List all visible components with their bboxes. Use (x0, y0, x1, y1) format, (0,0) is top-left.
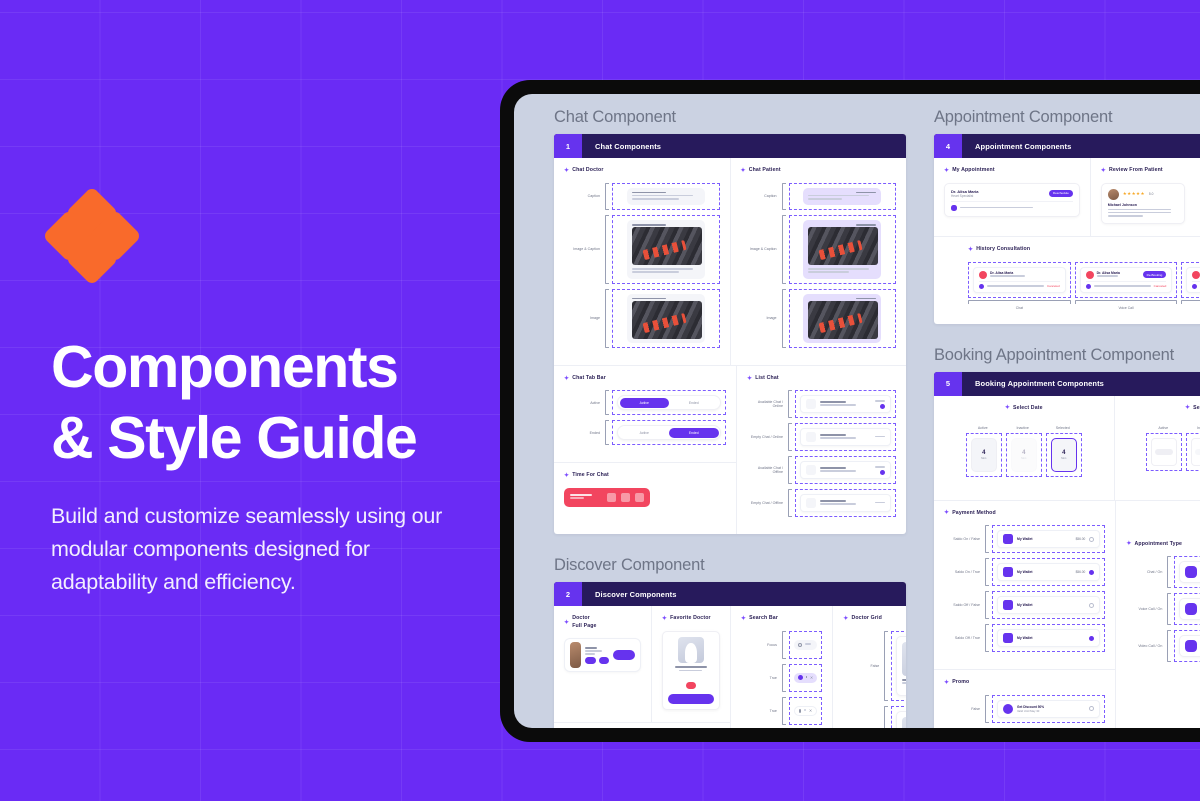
pane-favorite-doctor: ✦Favorite Doctor (652, 606, 730, 722)
re-booking-button[interactable]: Re-Booking (1143, 271, 1167, 278)
pane-appointment-type: ✦Appointment Type Chat / On Chat Start C… (1116, 501, 1200, 728)
spec-label: Ended (564, 420, 602, 445)
subsection-heading: ✦Promo (944, 679, 1105, 687)
diamond-bullet-icon: ✦ (1101, 168, 1106, 174)
card-header-label: Appointment Components (962, 134, 1071, 158)
hero-section: Components & Style Guide Build and custo… (51, 196, 481, 600)
status-badge: Canceled (1154, 284, 1167, 288)
state-label: Active (1146, 426, 1182, 430)
page-title-line-1: Components (51, 334, 398, 400)
time-state-active: Active (1146, 426, 1182, 471)
doctor-photo (902, 642, 906, 676)
calendar-icon (1086, 284, 1091, 289)
spec-preview: Active Ended (612, 420, 726, 445)
bracket-icon (605, 420, 609, 445)
diamond-bullet-icon: ✦ (564, 620, 569, 626)
spec-label: Active (564, 390, 602, 415)
card-number-badge: 1 (554, 134, 582, 158)
timer-digit (621, 493, 630, 502)
spec-row: Saldo Off / True My Wallet (944, 624, 1105, 652)
spec-row: Image & Caption (741, 215, 897, 284)
section-booking-appointment-component: Booking Appointment Component 5 Booking … (934, 346, 1200, 728)
chat-list-item[interactable] (800, 428, 891, 446)
radio-button[interactable] (1089, 603, 1094, 608)
spec-label: Saldo Off / True (944, 624, 982, 652)
section-title: Booking Appointment Component (934, 346, 1200, 365)
avatar (570, 642, 581, 668)
bracket-icon (1167, 593, 1171, 625)
subsection-heading: ✦Favorite Doctor (662, 615, 720, 623)
radio-button[interactable] (1089, 636, 1094, 641)
pane-history-consultation: ✦History Consultation Dr. Alisa Maria (934, 237, 1200, 324)
message-image (808, 301, 878, 339)
card-header-bar: 5 Booking Appointment Components (934, 372, 1200, 396)
wallet-amount: $56.00 (1076, 537, 1086, 541)
timer-digit (635, 493, 644, 502)
radio-button[interactable] (1089, 537, 1094, 542)
pane-chat-doctor: ✦Chat Doctor Caption (554, 158, 731, 365)
state-label: Inactive (1006, 426, 1042, 430)
bracket-icon (605, 183, 609, 211)
diamond-bullet-icon: ✦ (741, 168, 746, 174)
spec-row: Available Chat / Offline (747, 456, 896, 484)
spec-preview (795, 489, 896, 517)
subsection-heading: ✦Search Bar (741, 615, 822, 623)
wallet-name: My Wallet (1017, 537, 1072, 541)
section-appointment-component: Appointment Component 4 Appointment Comp… (934, 108, 1200, 324)
time-state-inactive: Inactive (1186, 426, 1200, 471)
chat-tab-bar[interactable]: Active Ended (617, 425, 721, 440)
spec-label: True (741, 664, 779, 692)
card-header-label: Chat Components (582, 134, 661, 158)
diamond-bullet-icon: ✦ (662, 616, 667, 622)
spec-label: Image & Caption (564, 215, 602, 284)
card-discover-components: 2 Discover Components ✦Doctor Full Page (554, 582, 906, 728)
spec-label: True (843, 706, 881, 728)
search-icon (798, 643, 802, 647)
avatar (806, 465, 816, 475)
spec-label: Voice Call / On (1126, 593, 1164, 625)
spec-preview: Video Call Bringing Face-to-Face Togethe… (1174, 630, 1200, 662)
spec-row: Saldo On / True My Wallet $56.00 (944, 558, 1105, 586)
tablet-device-frame: Chat Component 1 Chat Components ✦Chat D… (500, 80, 1200, 742)
spec-label: Video Call / On (1126, 630, 1164, 662)
wallet-icon (1003, 567, 1013, 577)
reviewer-name: Michael Johnson (1108, 203, 1178, 207)
calendar-icon (951, 205, 957, 211)
spec-row: Video Call / On Video Call Bringing Face… (1126, 630, 1200, 662)
page-title: Components & Style Guide (51, 332, 481, 474)
promo-icon (1003, 704, 1013, 714)
spec-row: False Get Discount 50% Valid Until May 3… (944, 695, 1105, 723)
avatar (806, 399, 816, 409)
card-booking-appointment-components: 5 Booking Appointment Components ✦Select… (934, 372, 1200, 728)
history-card[interactable]: Dr. Alisa Maria Re-Booking Canceled (1080, 267, 1173, 293)
payment-option[interactable]: My Wallet $56.00 (997, 530, 1100, 548)
bracket-icon (782, 631, 786, 659)
spec-row: Saldo Off / False My Wallet (944, 591, 1105, 619)
spec-preview (789, 183, 897, 211)
payment-option[interactable]: My Wallet (997, 596, 1100, 614)
bracket-icon (985, 525, 989, 553)
time-for-chat-card (564, 488, 650, 507)
avatar (806, 432, 816, 442)
history-item: Dr. Alisa Maria Video (1181, 262, 1200, 310)
spec-row: Available Chat / Online (747, 390, 896, 418)
spec-row: Empty Chat / Online (747, 423, 896, 451)
spec-label: True (741, 697, 779, 725)
diamond-bullet-icon: ✦ (944, 168, 949, 174)
search-icon (798, 675, 803, 680)
promo-option[interactable]: Get Discount 50% Valid Until May 30 (997, 700, 1100, 718)
subsection-heading: ✦Chat Doctor (564, 167, 720, 175)
calendar-icon (979, 284, 984, 289)
message-image (632, 227, 702, 265)
spec-preview (612, 215, 720, 284)
spec-label: Focus (741, 631, 779, 659)
chat-bubble (803, 188, 881, 206)
date-cell[interactable]: 4Mon (1051, 438, 1077, 472)
doctor-photo (902, 717, 906, 728)
pane-category: ✦Category False True (554, 722, 730, 728)
spec-row: Image (564, 289, 720, 348)
pane-doctor-full-page: ✦Doctor Full Page (554, 606, 652, 722)
page-title-line-2: & Style Guide (51, 405, 416, 471)
appointment-type-card[interactable]: Video Call Bringing Face-to-Face Togethe… (1179, 635, 1200, 657)
spec-preview: My Wallet $56.00 (992, 558, 1105, 586)
bracket-icon (985, 591, 989, 619)
spec-preview: My Wallet (992, 591, 1105, 619)
rating-stars: ★★★★★ (1123, 191, 1145, 197)
pane-time-for-chat: ✦Time For Chat (554, 462, 736, 519)
chat-icon (1185, 566, 1197, 578)
promo-desc: Valid Until May 30 (1017, 709, 1085, 713)
search-icon (799, 709, 802, 713)
bracket-icon (782, 215, 786, 284)
spec-preview (795, 390, 896, 418)
pane-promo: ✦Promo False Get Discount 50% (934, 669, 1115, 728)
spec-label: Available Chat / Online (747, 390, 785, 418)
search-input-focused[interactable]: ✕ (794, 673, 817, 683)
tablet-screen[interactable]: Chat Component 1 Chat Components ✦Chat D… (514, 94, 1200, 728)
video-call-icon (1185, 640, 1197, 652)
wallet-icon (1003, 600, 1013, 610)
spec-preview: Chat Start Conversation Instantly Throug… (1174, 556, 1200, 588)
state-label: Inactive (1186, 426, 1200, 430)
clear-icon[interactable]: ✕ (809, 708, 812, 713)
spec-preview (612, 183, 720, 211)
diamond-bullet-icon: ✦ (564, 376, 569, 382)
diamond-bullet-icon: ✦ (564, 168, 569, 174)
section-discover-component: Discover Component 2 Discover Components… (554, 556, 906, 728)
doctor-grid-card[interactable] (896, 636, 906, 696)
card-header-label: Booking Appointment Components (962, 372, 1104, 396)
doctor-name: Dr. Alisa Maria (990, 271, 1060, 275)
timer-digit (607, 493, 616, 502)
status-badge: Canceled (1047, 284, 1060, 288)
bracket-icon (605, 215, 609, 284)
tab-ended[interactable]: Ended (669, 428, 719, 438)
wallet-name: My Wallet (1017, 603, 1085, 607)
spec-label: Saldo On / True (944, 558, 982, 586)
bracket-icon (968, 300, 1071, 304)
pane-select-time: ✦Select Time Active Inactive S (1115, 396, 1200, 500)
spec-label: Image & Caption (741, 215, 779, 284)
doctor-name: Dr. Alisa Maria (1097, 271, 1140, 275)
diamond-bullet-icon: ✦ (968, 247, 973, 253)
subsection-heading: ✦Appointment Type (1126, 541, 1200, 549)
video-call-icon (1192, 271, 1200, 279)
bracket-icon (1167, 556, 1171, 588)
spec-preview (795, 456, 896, 484)
doctor-tag (599, 657, 610, 664)
chat-bubble-image-only (803, 294, 881, 343)
diamond-bullet-icon: ✦ (1126, 541, 1131, 547)
spec-row: Active Active Ended (564, 390, 726, 415)
chat-icon (979, 271, 987, 279)
state-label: Active (966, 426, 1002, 430)
date-state-inactive: Inactive 4Mon (1006, 426, 1042, 477)
chat-bubble-image-only (627, 294, 705, 343)
pane-payment-method: ✦Payment Method Saldo On / False My Wall… (934, 501, 1115, 670)
subsection-heading: ✦Time For Chat (564, 472, 726, 480)
spec-preview (795, 423, 896, 451)
pane-chat-patient: ✦Chat Patient Caption (731, 158, 907, 365)
tab-active[interactable]: Active (620, 428, 670, 438)
doctor-role: Heart Specialist (951, 194, 1045, 198)
bracket-icon (782, 664, 786, 692)
review-card: ★★★★★ 5.0 Michael Johnson (1101, 183, 1185, 225)
pane-list-chat: ✦List Chat Available Chat / Online (737, 366, 906, 535)
spec-label: Image (564, 289, 602, 348)
bracket-icon (884, 631, 888, 701)
subsection-heading: ✦Doctor Full Page (564, 615, 641, 630)
time-slot[interactable] (1191, 438, 1200, 466)
spec-preview (789, 289, 897, 348)
bracket-icon (788, 423, 792, 451)
message-image (808, 227, 878, 265)
card-number-badge: 2 (554, 582, 582, 606)
time-slot[interactable] (1151, 438, 1177, 466)
voice-call-icon (1086, 271, 1094, 279)
doctor-full-page-card[interactable] (564, 638, 641, 672)
wallet-name: My Wallet (1017, 570, 1072, 574)
bracket-icon (1181, 300, 1200, 304)
spec-row: Voice Call / On Voice Call Start Convers… (1126, 593, 1200, 625)
history-card[interactable]: Dr. Alisa Maria Canceled (973, 267, 1066, 293)
bracket-icon (782, 289, 786, 348)
state-label: Selected (1046, 426, 1082, 430)
doctor-tag (585, 657, 596, 664)
bracket-icon (1167, 630, 1171, 662)
history-card[interactable]: Dr. Alisa Maria (1186, 267, 1200, 293)
reschedule-button[interactable]: Reschedule (1049, 190, 1073, 197)
clear-icon[interactable]: ✕ (810, 675, 813, 680)
wallet-icon (1003, 633, 1013, 643)
spec-label: Empty Chat / Online (747, 423, 785, 451)
spec-label: Caption (564, 183, 602, 211)
chat-bubble-image (803, 220, 881, 279)
diamond-bullet-icon: ✦ (564, 473, 569, 479)
section-chat-component: Chat Component 1 Chat Components ✦Chat D… (554, 108, 906, 534)
chat-list-item[interactable] (800, 494, 891, 512)
bracket-icon (985, 695, 989, 723)
spec-label: False (944, 695, 982, 723)
spec-row: False (843, 631, 906, 701)
bracket-icon (788, 390, 792, 418)
bracket-icon (782, 183, 786, 211)
favorite-doctor-card[interactable] (662, 631, 720, 710)
spec-label: False (843, 631, 881, 701)
hero-subtitle: Build and customize seamlessly using our… (51, 500, 451, 600)
diamond-bullet-icon: ✦ (843, 616, 848, 622)
bracket-icon (782, 697, 786, 725)
spec-preview: ✕ (789, 664, 822, 692)
chat-list-item[interactable] (800, 395, 891, 413)
chat-list-item[interactable] (800, 461, 891, 479)
book-button[interactable] (668, 694, 714, 704)
spec-label: Chat / On (1126, 556, 1164, 588)
payment-option[interactable]: My Wallet (997, 629, 1100, 647)
pane-my-appointment: ✦My Appointment Dr. Alisa Maria Heart Sp… (934, 158, 1091, 236)
card-header-bar: 2 Discover Components (554, 582, 906, 606)
card-number-badge: 4 (934, 134, 962, 158)
subsection-heading: ✦List Chat (747, 375, 896, 383)
subsection-heading: ✦My Appointment (944, 167, 1080, 175)
bracket-icon (605, 390, 609, 415)
bracket-icon (788, 456, 792, 484)
radio-button[interactable] (1089, 706, 1094, 711)
card-header-label: Discover Components (582, 582, 677, 606)
date-cell[interactable]: 4Mon (1011, 438, 1037, 472)
card-chat-components: 1 Chat Components ✦Chat Doctor Caption (554, 134, 906, 534)
search-input-filled[interactable]: ✕ (794, 706, 817, 716)
pane-select-date: ✦Select Date Active 4Mon Inactive 4Mon (934, 396, 1115, 500)
spec-label: Image (741, 289, 779, 348)
spec-preview: Voice Call Start Conversation Instantly … (1174, 593, 1200, 625)
wallet-name: My Wallet (1017, 636, 1085, 640)
bracket-icon (985, 558, 989, 586)
spec-row: Chat / On Chat Start Conversation Instan… (1126, 556, 1200, 588)
spec-label: Saldo Off / False (944, 591, 982, 619)
spec-row: Image & Caption (564, 215, 720, 284)
card-appointment-components: 4 Appointment Components ✦My Appointment… (934, 134, 1200, 324)
card-header-bar: 4 Appointment Components (934, 134, 1200, 158)
spec-preview: My Wallet $56.00 (992, 525, 1105, 553)
chat-bubble-image (627, 220, 705, 279)
bracket-icon (605, 289, 609, 348)
subsection-heading: ✦Review From Patient (1101, 167, 1200, 175)
spec-label: Saldo On / False (944, 525, 982, 553)
doctor-grid-card[interactable] (896, 711, 906, 728)
section-title: Appointment Component (934, 108, 1200, 127)
spec-row: True ✕ (741, 697, 822, 725)
my-appointment-card[interactable]: Dr. Alisa Maria Heart Specialist Resched… (944, 183, 1080, 217)
spec-row: Focus (741, 631, 822, 659)
subsection-heading: ✦Chat Patient (741, 167, 897, 175)
diamond-cluster-logo (51, 196, 133, 278)
date-state-selected: Selected 4Mon (1046, 426, 1082, 477)
history-item: Dr. Alisa Maria Canceled (968, 262, 1071, 310)
spec-label: Available Chat / Offline (747, 456, 785, 484)
date-cell[interactable]: 4Mon (971, 438, 997, 472)
subsection-heading: ✦History Consultation (944, 246, 1200, 254)
pane-chat-tab-bar: ✦Chat Tab Bar Active Active Ended (554, 366, 736, 463)
section-title: Chat Component (554, 108, 906, 127)
spec-label: Empty Chat / Offline (747, 489, 785, 517)
spec-preview (891, 706, 906, 728)
card-header-bar: 1 Chat Components (554, 134, 906, 158)
spec-label: Caption (741, 183, 779, 211)
diamond-bullet-icon: ✦ (1185, 405, 1190, 411)
avatar (1108, 189, 1119, 200)
message-image (632, 301, 702, 339)
diamond-bullet-icon: ✦ (1005, 405, 1010, 411)
subsection-heading: ✦Chat Tab Bar (564, 375, 726, 383)
radio-button[interactable] (1089, 570, 1094, 575)
bracket-icon (788, 489, 792, 517)
spec-preview (891, 631, 906, 701)
doctor-tag (686, 682, 697, 689)
spec-row: Caption (564, 183, 720, 211)
calendar-icon (1192, 284, 1197, 289)
avatar (806, 498, 816, 508)
bracket-icon (985, 624, 989, 652)
search-input[interactable] (794, 640, 817, 650)
history-caption: Voice Call (1118, 306, 1133, 310)
book-button[interactable] (613, 650, 635, 660)
pane-review-from-patient: ✦Review From Patient ★★★★★ 5.0 Michael J… (1091, 158, 1200, 236)
subsection-heading: ✦Doctor Grid (843, 615, 906, 623)
bracket-icon (884, 706, 888, 728)
pane-doctor-grid: ✦Doctor Grid False (833, 606, 906, 728)
spec-preview: Get Discount 50% Valid Until May 30 (992, 695, 1105, 723)
spec-preview (612, 289, 720, 348)
payment-option[interactable]: My Wallet $56.00 (997, 563, 1100, 581)
subsection-heading: ✦Select Date (944, 405, 1104, 413)
voice-call-icon (1185, 603, 1197, 615)
diamond-bullet-icon: ✦ (741, 616, 746, 622)
diamond-bullet-icon: ✦ (747, 376, 752, 382)
diamond-bullet-icon: ✦ (944, 510, 949, 516)
spec-row: Empty Chat / Offline (747, 489, 896, 517)
tab-active[interactable]: Active (620, 398, 670, 408)
section-title: Discover Component (554, 556, 906, 575)
doctor-photo (678, 637, 704, 663)
wallet-amount: $56.00 (1076, 570, 1086, 574)
diamond-bullet-icon: ✦ (944, 680, 949, 686)
pane-search-bar: ✦Search Bar Focus (731, 606, 833, 728)
wallet-icon (1003, 534, 1013, 544)
tab-ended[interactable]: Ended (669, 398, 719, 408)
spec-row: Saldo On / False My Wallet $56.00 (944, 525, 1105, 553)
subsection-heading: ✦Payment Method (944, 510, 1105, 518)
chat-bubble (627, 188, 705, 206)
history-item: Dr. Alisa Maria Re-Booking Canceled (1075, 262, 1178, 310)
card-number-badge: 5 (934, 372, 962, 396)
rating-value: 5.0 (1149, 192, 1153, 196)
spec-preview (789, 215, 897, 284)
spec-row: Image (741, 289, 897, 348)
spec-preview (789, 631, 822, 659)
appointment-type-card[interactable]: Chat Start Conversation Instantly Throug… (1179, 561, 1200, 583)
spec-preview: My Wallet (992, 624, 1105, 652)
spec-row: True ✕ (741, 664, 822, 692)
bracket-icon (1075, 300, 1178, 304)
spec-row: True (843, 706, 906, 728)
chat-tab-bar[interactable]: Active Ended (617, 395, 721, 410)
appointment-type-card[interactable]: Voice Call Start Conversation Instantly … (1179, 598, 1200, 620)
